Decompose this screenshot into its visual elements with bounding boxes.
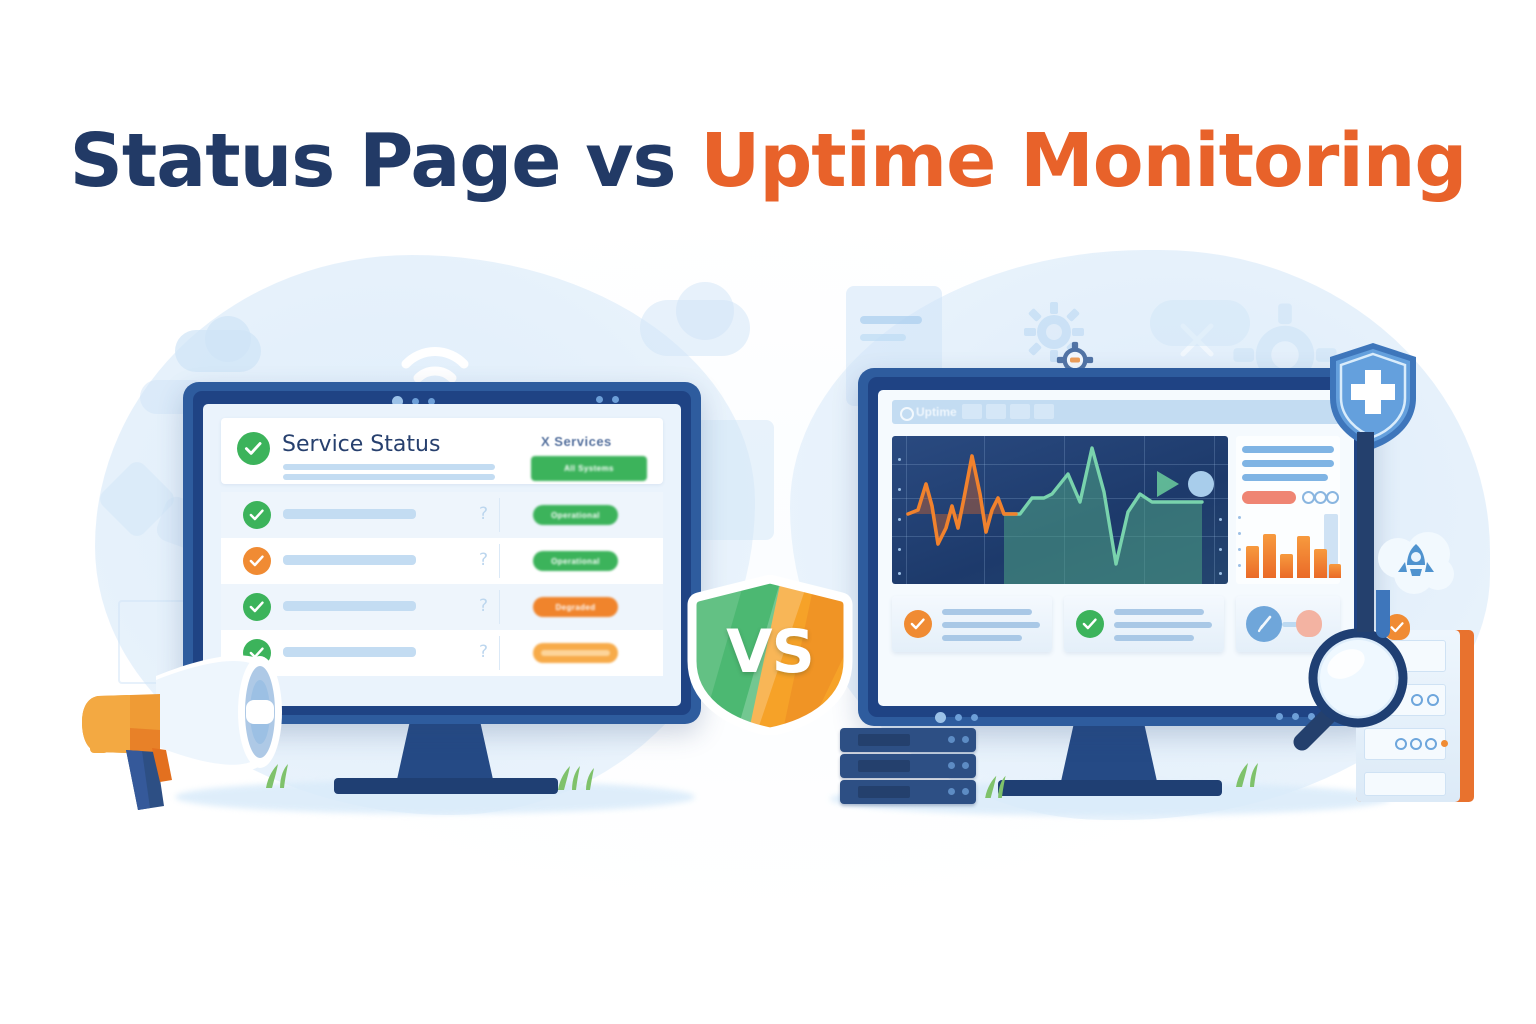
dashboard-side-panel [1236, 436, 1340, 584]
service-meta: ? [479, 642, 488, 662]
check-orange-icon [904, 610, 932, 638]
bar-item [1329, 564, 1341, 578]
service-status-pill[interactable] [533, 643, 618, 663]
row-divider [499, 544, 500, 578]
cloud-shape [1150, 300, 1250, 346]
illustration-canvas: Status Page vs Uptime Monitoring [0, 0, 1536, 1024]
header-skeleton-line [283, 464, 495, 470]
service-status-pill[interactable]: Operational [533, 505, 618, 525]
grass-decor [260, 760, 304, 788]
rocket-badge-stem [1376, 590, 1390, 638]
uptime-chart [892, 436, 1228, 584]
service-row[interactable]: ? Operational [221, 538, 663, 584]
status-card[interactable] [1064, 596, 1224, 652]
cloud-shape [205, 316, 251, 362]
monitor-bezel-dots-bottom [596, 396, 619, 403]
chart-point-marker [1188, 471, 1214, 497]
dashboard-header-label: Uptime [916, 405, 957, 419]
check-green-icon [243, 593, 271, 621]
page-title-part-2: Uptime Monitoring [700, 118, 1466, 204]
monitor-stand-neck [396, 722, 494, 784]
row-divider [499, 590, 500, 624]
play-triangle-icon [1157, 471, 1179, 497]
megaphone-icon [60, 640, 350, 820]
check-green-icon [237, 432, 270, 465]
shield-pole [1357, 432, 1374, 632]
service-name-skeleton [283, 555, 416, 565]
rack-slot [1364, 772, 1446, 796]
grass-decor [978, 772, 1022, 798]
monitor-stand-base [998, 780, 1222, 796]
row-divider [499, 636, 500, 670]
bar-item [1297, 536, 1310, 578]
dashboard-header: Uptime [892, 400, 1340, 424]
card-skeleton-line [942, 635, 1022, 641]
check-green-icon [243, 501, 271, 529]
card-skeleton-line [942, 622, 1040, 628]
vs-badge: VS [686, 575, 854, 735]
gauge-needle-icon [1246, 606, 1282, 642]
indicator-dot [1326, 491, 1339, 504]
row-divider [499, 498, 500, 532]
bar-item [1280, 554, 1293, 578]
alert-pill[interactable] [1242, 491, 1296, 504]
side-skeleton-line [1242, 446, 1334, 453]
decor-line [860, 316, 922, 324]
status-card[interactable] [892, 596, 1052, 652]
card-skeleton-line [1114, 622, 1212, 628]
monitor-stand-neck [1060, 724, 1158, 786]
bar-item [1314, 549, 1327, 578]
page-title: Status Page vs Uptime Monitoring [0, 118, 1536, 204]
logo-icon [900, 407, 914, 421]
dashboard-tabs[interactable] [962, 404, 1054, 419]
card-skeleton-line [942, 609, 1032, 615]
side-skeleton-line [1242, 474, 1328, 481]
vs-badge-label: VS [686, 575, 854, 735]
card-skeleton-line [1114, 635, 1194, 641]
service-name-skeleton [283, 601, 416, 611]
service-status-subtitle: X Services [541, 434, 612, 449]
service-row[interactable]: ? Operational [221, 492, 663, 538]
service-status-title: Service Status [282, 432, 440, 457]
cloud-shape [676, 282, 734, 340]
service-status-pill[interactable]: Degraded [533, 597, 618, 617]
bar-item [1263, 534, 1276, 578]
magnifier-icon [1292, 616, 1424, 752]
service-name-skeleton [283, 509, 416, 519]
service-meta: ? [479, 596, 488, 616]
response-time-series-line [892, 436, 1228, 584]
bar-item [1246, 546, 1259, 578]
service-row[interactable]: ? Degraded [221, 584, 663, 630]
header-status-pill[interactable]: All Systems [531, 456, 647, 481]
uptime-dashboard-screen: Uptime [878, 390, 1354, 706]
monitor-bezel-dots [935, 712, 978, 723]
service-meta: ? [479, 550, 488, 570]
service-status-header: Service Status X Services All Systems [221, 418, 663, 484]
card-skeleton-line [1114, 609, 1204, 615]
rocket-icon [1374, 528, 1458, 598]
check-green-icon [1076, 610, 1104, 638]
grass-decor [552, 762, 602, 790]
monitor-stand-base [334, 778, 558, 794]
grass-decor [1230, 758, 1274, 788]
side-skeleton-line [1242, 460, 1334, 467]
service-status-pill[interactable]: Operational [533, 551, 618, 571]
cloud-shape [694, 420, 774, 540]
page-title-part-1: Status Page vs [70, 118, 701, 204]
check-orange-icon [243, 547, 271, 575]
header-skeleton-line [283, 474, 495, 480]
decor-line [860, 334, 906, 341]
service-meta: ? [479, 504, 488, 524]
